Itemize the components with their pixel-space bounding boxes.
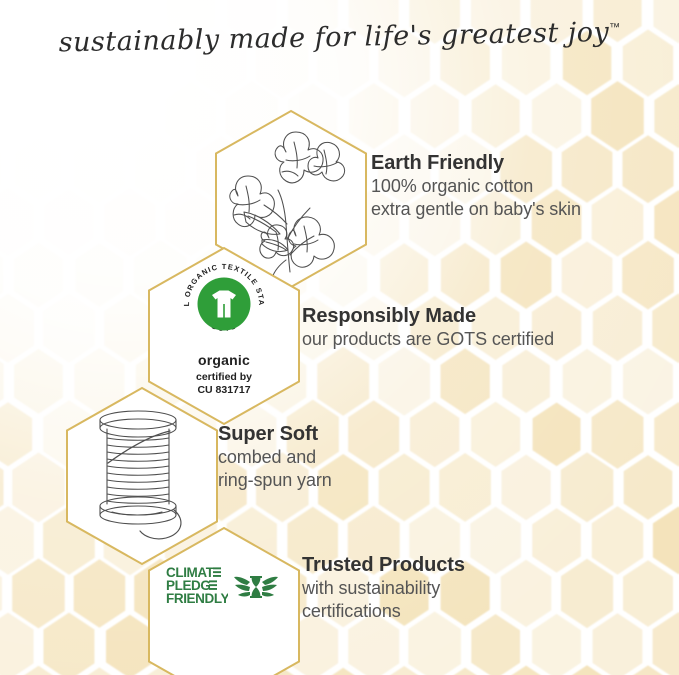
feature-line: with sustainability — [302, 577, 465, 600]
feature-line: certifications — [302, 600, 465, 623]
feature-line: our products are GOTS certified — [302, 328, 554, 351]
feature-text-super-soft: Super Soft combed and ring-spun yarn — [218, 423, 332, 492]
gots-certified-by-label: certified by — [154, 371, 294, 384]
winged-hourglass-icon — [233, 568, 279, 608]
feature-line: ring-spun yarn — [218, 469, 332, 492]
feature-line: 100% organic cotton — [371, 175, 581, 198]
gots-organic-certification-icon: GLOBAL ORGANIC TEXTILE STANDARD · GOTS · — [178, 258, 270, 350]
cpf-line-3: FRIENDLY — [166, 591, 228, 606]
gots-organic-label: organic — [154, 352, 294, 368]
climate-pledge-wordmark: CLIMAT PLEDG FRIENDLY — [166, 563, 228, 613]
feature-title: Earth Friendly — [371, 152, 581, 175]
promotional-infographic: sustainably made for life's greatest joy… — [0, 0, 679, 675]
feature-text-responsibly-made: Responsibly Made our products are GOTS c… — [302, 305, 554, 351]
feature-title: Trusted Products — [302, 554, 465, 577]
trademark-symbol: ™ — [609, 22, 620, 34]
feature-line: extra gentle on baby's skin — [371, 198, 581, 221]
climate-pledge-friendly-icon: CLIMAT PLEDG FRIENDLY — [166, 563, 279, 613]
feature-text-trusted-products: Trusted Products with sustainability cer… — [302, 554, 465, 623]
feature-title: Responsibly Made — [302, 305, 554, 328]
feature-line: combed and — [218, 446, 332, 469]
feature-text-earth-friendly: Earth Friendly 100% organic cotton extra… — [371, 152, 581, 221]
gots-certification-lockup: GLOBAL ORGANIC TEXTILE STANDARD · GOTS ·… — [154, 258, 294, 397]
feature-title: Super Soft — [218, 423, 332, 446]
